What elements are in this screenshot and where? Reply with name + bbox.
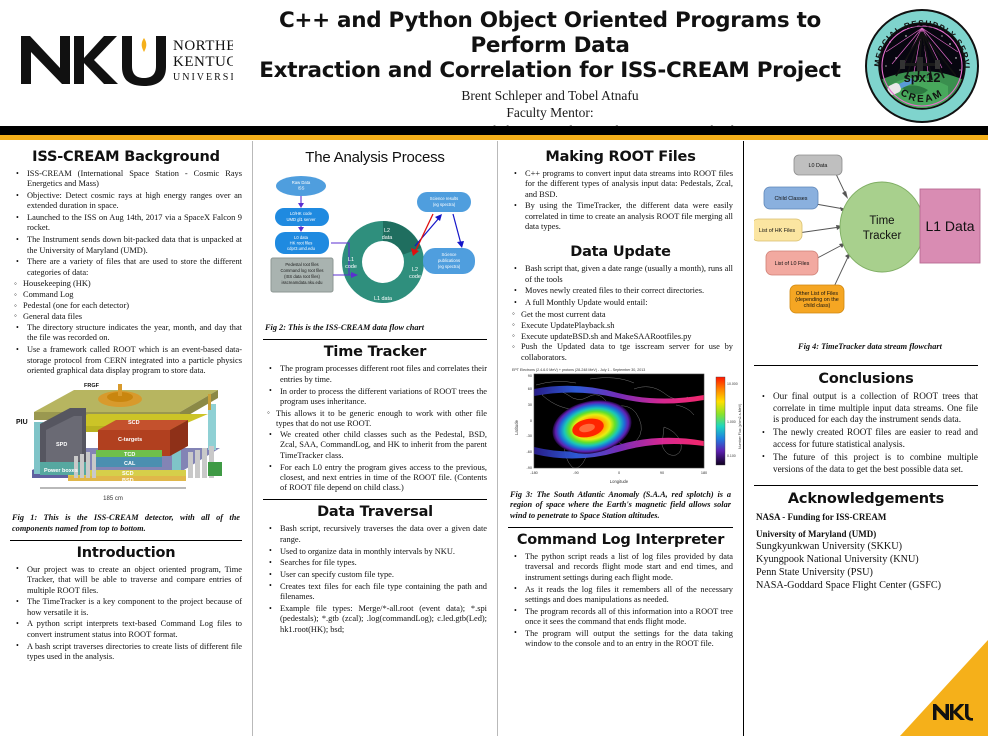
figure-2-caption: Fig 2: This is the ISS-CREAM data flow c…	[265, 323, 485, 333]
fig4-node-l1-data: L1 Data	[925, 218, 974, 234]
list-item: Bash script that, given a date range (us…	[523, 264, 733, 285]
time-tracker-list: The program processes different root fil…	[265, 364, 487, 407]
list-item: Launched to the ISS on Aug 14th, 2017 vi…	[25, 213, 242, 234]
data-traversal-list: Bash script, recursively traverses the d…	[265, 524, 487, 634]
figure-3-plot-title: EPT Electrons (2.4-6.0 MeV) + protons (2…	[512, 368, 645, 372]
figure-3-xtick-3: 90	[660, 471, 664, 475]
header-gold-bar	[0, 135, 988, 140]
list-item: Moves newly created files to their corre…	[523, 286, 733, 296]
list-item: As it reads the log files it remembers a…	[523, 585, 733, 606]
list-item: Creates text files for each file type co…	[278, 582, 487, 603]
figure-4-caption: Fig 4: TimeTracker data stream flowchart	[797, 342, 943, 351]
list-item: The program records all of this informat…	[523, 607, 733, 628]
fig2-node-pedestal-2: Command log root files	[280, 268, 323, 273]
figure-3-ytick-5: 60	[528, 387, 532, 391]
section-divider	[263, 339, 487, 340]
fig2-node-pedestal: Pedestal root files	[285, 262, 318, 267]
figure-3-xtick-4: 180	[701, 471, 707, 475]
logo-line3: UNIVERSITY	[173, 72, 233, 83]
making-root-files-list: C++ programs to convert input data strea…	[510, 169, 733, 232]
list-item: The directory structure indicates the ye…	[25, 323, 242, 344]
list-item: This allows it to be generic enough to w…	[276, 409, 487, 430]
list-item: In order to process the different variat…	[278, 387, 487, 408]
nku-logo: NORTHERN KENTUCKY UNIVERSITY	[18, 28, 233, 90]
list-item: University of Maryland (UMD)	[756, 528, 978, 540]
list-item: The Instrument sends down bit-packed dat…	[25, 235, 242, 256]
list-item: Get the most current data	[521, 310, 733, 320]
section-divider	[10, 540, 242, 541]
figure-3-xtick-0: -180	[530, 471, 538, 475]
fig1-label-piu: PIU	[16, 419, 28, 426]
figure-3-caption: Fig 3: The South Atlantic Anomaly (S.A.A…	[510, 490, 731, 521]
column-1: ISS-CREAM Background ISS-CREAM (Internat…	[0, 141, 252, 736]
acknowledgements-partner-list: University of Maryland (UMD) Sungkyunkwa…	[756, 528, 978, 592]
column-2: The Analysis Process	[252, 141, 497, 736]
fig2-node-science-pubs: Science	[442, 252, 458, 257]
section-heading-conclusions: Conclusions	[754, 371, 978, 387]
fig1-label-ctargets: C-targets	[118, 437, 142, 443]
figure-3-cbar-tick-1: 1.000	[727, 420, 736, 424]
fig1-label-bcd: SCD	[122, 471, 134, 477]
figure-3-ylabel: Latitude	[514, 419, 519, 435]
list-item: Execute updateBSD.sh and MakeSAARootfile…	[521, 332, 733, 342]
time-tracker-list-continued: We created other child classes such as t…	[265, 430, 487, 493]
section-heading-command-log-interpreter: Command Log Interpreter	[508, 532, 733, 548]
conclusions-list: Our final output is a collection of ROOT…	[756, 391, 978, 475]
introduction-list: Our project was to create an object orie…	[12, 565, 242, 662]
section-heading-making-root-files: Making ROOT Files	[508, 149, 733, 165]
figure-3-xtick-2: 0	[618, 471, 620, 475]
fig1-label-cal: CAL	[124, 461, 136, 467]
list-item: Penn State University (PSU)	[756, 566, 978, 579]
figure-3-ytick-6: 90	[528, 374, 532, 378]
list-item: User can specify custom file type.	[278, 570, 487, 580]
section-divider	[754, 485, 978, 486]
fig1-label-scd: SCD	[128, 420, 140, 426]
fig4-node-timetracker-2: Tracker	[863, 230, 902, 242]
list-item: Bash script, recursively traverses the d…	[278, 524, 487, 545]
logo-line2: KENTUCKY	[173, 54, 233, 70]
list-item: Use a framework called ROOT which is an …	[25, 345, 242, 376]
fig2-node-l0-data-3: cdpr3.umd.edu	[287, 246, 316, 251]
section-heading-data-traversal: Data Traversal	[263, 504, 487, 520]
figure-3-cbar-label: Number Flux (p/cm2-s-MeV)	[738, 404, 742, 449]
fig4-node-child-classes: Child Classes	[775, 196, 808, 202]
section-divider	[508, 527, 733, 528]
figure-3-cbar-tick-0: 10.000	[727, 382, 738, 386]
poster-body: ISS-CREAM Background ISS-CREAM (Internat…	[0, 141, 988, 736]
fig2-node-science-pubs-3: (eg spectra)	[438, 264, 461, 269]
list-item: The program will output the settings for…	[523, 629, 733, 650]
figure-3-ytick-4: 30	[528, 403, 532, 407]
list-item: Our project was to create an object orie…	[25, 565, 242, 596]
list-item: Push the Updated data to tge isscream se…	[521, 342, 733, 363]
figure-3-ytick-0: -90	[527, 466, 533, 470]
fig2-node-l1-code: L1	[348, 257, 354, 263]
figure-3-xtick-1: -90	[573, 471, 579, 475]
iss-cream-background-list-continued: The directory structure indicates the ye…	[12, 323, 242, 376]
data-update-list: Bash script that, given a date range (us…	[510, 264, 733, 308]
mission-patch-icon: COMMERCIAL RESUPPLY SERVICES CREAM spx12	[862, 6, 982, 126]
list-item: Sungkyunkwan University (SKKU)	[756, 540, 978, 553]
poster-header: NORTHERN KENTUCKY UNIVERSITY C++ and Pyt…	[0, 0, 988, 126]
list-item: For each L0 entry the program gives acce…	[278, 463, 487, 494]
fig2-node-l2-code: L2	[412, 267, 418, 273]
fig4-node-other-files-3: child class)	[804, 303, 831, 309]
figure-3-xlabel: Longitude	[610, 479, 629, 484]
fig2-node-l0hk-code-2: UMD gl1 server	[286, 217, 316, 222]
section-divider	[754, 365, 978, 366]
fig1-label-bsd: BSD	[122, 478, 134, 484]
title-block: C++ and Python Object Oriented Programs …	[250, 8, 850, 139]
poster-title-line2: Extraction and Correlation for ISS-CREAM…	[250, 58, 850, 83]
fig2-node-science-results-2: (eg spectra)	[433, 202, 456, 207]
figure-4-timetracker-flowchart: L0 Data Child Classes List of HK Files L…	[754, 149, 986, 361]
list-item: Pedestal (one for each detector)	[23, 301, 242, 311]
list-item: The python script reads a list of log fi…	[523, 552, 733, 583]
section-heading-time-tracker: Time Tracker	[263, 344, 487, 360]
column-3: Making ROOT Files C++ programs to conver…	[497, 141, 743, 736]
fig1-label-tcd: TCD	[124, 452, 135, 458]
section-divider	[263, 499, 487, 500]
fig4-node-hk-files: List of HK Files	[759, 228, 796, 234]
list-item: Kyungpook National University (KNU)	[756, 553, 978, 566]
header-black-bar	[0, 126, 988, 135]
list-item: The newly created ROOT files are easier …	[771, 427, 978, 450]
fig2-node-science-pubs-2: publications	[438, 258, 460, 263]
figure-2-data-flow-chart: Raw Data ISS L0/HK code UMD gl1 server L…	[263, 170, 488, 320]
time-tracker-sub-list: This allows it to be generic enough to w…	[263, 409, 487, 430]
fig2-node-raw-data: Raw Data	[292, 180, 311, 185]
patch-mission-label: spx12	[904, 70, 941, 85]
footer-nku-mark	[932, 702, 974, 722]
list-item: A python script interprets text-based Co…	[25, 619, 242, 640]
section-heading-data-update: Data Update	[508, 244, 733, 260]
fig2-node-l0-data: L0 data	[294, 235, 309, 240]
poster-root: NORTHERN KENTUCKY UNIVERSITY C++ and Pyt…	[0, 0, 988, 736]
list-item: There are a variety of files that are us…	[25, 257, 242, 278]
list-item: Used to organize data in monthly interva…	[278, 547, 487, 557]
data-update-sub-list: Get the most current data Execute Update…	[508, 310, 733, 363]
list-item: Example file types: Merge/*-all.root (ev…	[278, 604, 487, 635]
section-heading-introduction: Introduction	[10, 545, 242, 561]
iss-cream-background-list: ISS-CREAM (International Space Station -…	[12, 169, 242, 278]
figure-3-ytick-3: 0	[530, 419, 532, 423]
list-item: NASA-Goddard Space Flight Center (GSFC)	[756, 579, 978, 592]
fig2-node-l2-code-2: code	[409, 274, 421, 280]
list-item: A bash script traverses directories to c…	[25, 642, 242, 663]
list-item: The program processes different root fil…	[278, 364, 487, 385]
fig1-label-spd: SPD	[56, 442, 67, 448]
list-item: A full Monthly Update would entail:	[523, 298, 733, 308]
list-item: Housekeeping (HK)	[23, 279, 242, 289]
section-heading-iss-cream-background: ISS-CREAM Background	[10, 149, 242, 165]
fig2-node-l2-data: L2	[384, 228, 390, 234]
list-item: The future of this project is to combine…	[771, 452, 978, 475]
section-heading-acknowledgements: Acknowledgements	[754, 491, 978, 507]
faculty-mentor-label: Faculty Mentor:	[250, 105, 850, 122]
figure-3-saa-plot: EPT Electrons (2.4-6.0 MeV) + protons (2…	[508, 365, 746, 487]
list-item: Execute UpdatePlayback.sh	[521, 321, 733, 331]
iss-cream-data-categories-list: Housekeeping (HK) Command Log Pedestal (…	[10, 279, 242, 322]
fig2-node-science-results: Science results	[430, 196, 458, 201]
list-item: We created other child classes such as t…	[278, 430, 487, 461]
fig4-node-l0-files: List of L0 Files	[775, 261, 810, 267]
poster-title-line1: C++ and Python Object Oriented Programs …	[250, 8, 850, 58]
command-log-interpreter-list: The python script reads a list of log fi…	[510, 552, 733, 649]
fig2-node-raw-data-2: ISS	[298, 186, 305, 191]
list-item: Searches for file types.	[278, 558, 487, 568]
logo-line1: NORTHERN	[173, 38, 233, 54]
fig2-node-l2-data-2: data	[382, 235, 393, 241]
poster-authors: Brent Schleper and Tobel Atnafu	[250, 88, 850, 105]
list-item: By using the TimeTracker, the different …	[523, 201, 733, 232]
list-item: Command Log	[23, 290, 242, 300]
fig1-label-powerboxes: Power boxes	[44, 468, 78, 474]
list-item: Objective: Detect cosmic rays at high en…	[25, 191, 242, 212]
fig2-node-l1-code-2: code	[345, 264, 357, 270]
list-item: Our final output is a collection of ROOT…	[771, 391, 978, 426]
fig2-node-pedestal-3: (ISS data root files)	[284, 274, 320, 279]
fig4-node-l0-data: L0 Data	[809, 163, 828, 169]
fig2-node-l1-data: L1 data	[374, 296, 392, 302]
figure-1-detector-image: FRGF PIU SCD C-targets TCD CAL SCD BSD S…	[12, 378, 240, 510]
list-item: General data files	[23, 312, 242, 322]
section-heading-analysis-process: The Analysis Process	[263, 149, 487, 166]
list-item: C++ programs to convert input data strea…	[523, 169, 733, 200]
list-item: The TimeTracker is a key component to th…	[25, 597, 242, 618]
fig1-scale-label: 185 cm	[103, 496, 123, 502]
figure-3-ytick-1: -60	[527, 450, 533, 454]
fig4-node-timetracker-1: Time	[869, 215, 894, 227]
figure-1-caption: Fig 1: This is the ISS-CREAM detector, w…	[12, 513, 240, 534]
fig2-node-l0hk-code: L0/HK code	[290, 211, 313, 216]
fig2-node-pedestal-4: isscreamdata.nku.edu	[282, 280, 324, 285]
figure-3-cbar-tick-2: 0.100	[727, 454, 736, 458]
fig2-node-l0-data-2: HK root files	[290, 241, 313, 246]
figure-3-ytick-2: -30	[527, 434, 533, 438]
fig1-label-frgf: FRGF	[84, 383, 100, 389]
list-item: ISS-CREAM (International Space Station -…	[25, 169, 242, 190]
acknowledgements-funding: NASA - Funding for ISS-CREAM	[756, 511, 978, 523]
